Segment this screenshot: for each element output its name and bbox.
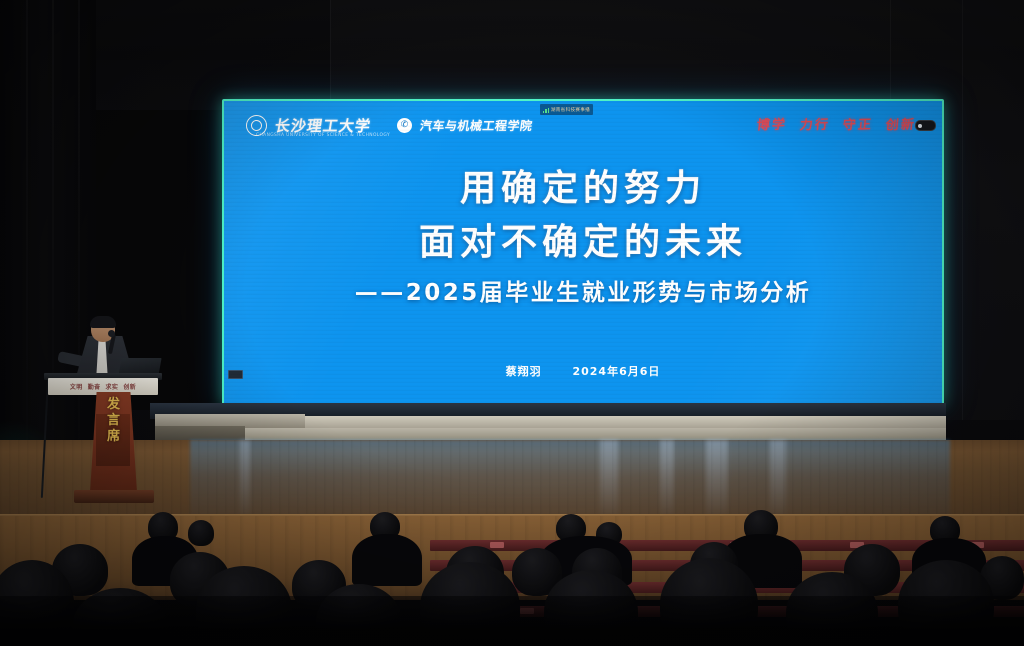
university-motto: 博学 力行 守正 创新 (757, 114, 916, 133)
slide-title-line-1: 用确定的努力 (224, 159, 942, 211)
slide-title-line-2: 面对不确定的未来 (224, 213, 942, 265)
slide-header: 长沙理工大学 ✆ 汽车与机械工程学院 CHANGSHA UNIVERSITY O… (224, 101, 942, 147)
wall-seam (962, 0, 963, 420)
podium-base (74, 490, 154, 503)
lecture-hall-photo: 长沙理工大学 ✆ 汽车与机械工程学院 CHANGSHA UNIVERSITY O… (0, 0, 1024, 646)
foreground-shadow (0, 596, 1024, 646)
presenter-name: 蔡翔羽 (506, 365, 542, 378)
presentation-slide: 长沙理工大学 ✆ 汽车与机械工程学院 CHANGSHA UNIVERSITY O… (224, 101, 942, 403)
motto-word: 创新 (885, 114, 917, 134)
slide-subtitle: ——2025届毕业生就业形势与市场分析 (224, 273, 942, 307)
audience-head (188, 520, 214, 546)
podium-banner-word: 求实 (106, 382, 119, 391)
podium-banner-word: 勤奋 (88, 382, 101, 391)
podium-label: 发 言 席 (90, 398, 137, 443)
podium-and-speaker: 文明 勤奋 求实 创新 发 言 席 (36, 318, 186, 520)
college-badge-icon: ✆ (397, 118, 412, 133)
podium-label-char: 发 (107, 398, 120, 411)
audience-shoulders (352, 534, 422, 586)
college-badge-glyph: ✆ (401, 121, 409, 130)
podium-label-char: 席 (107, 430, 120, 443)
signal-bars-icon (543, 107, 549, 113)
podium-banner-word: 创新 (123, 382, 136, 391)
presentation-date: 2024年6月6日 (572, 365, 660, 378)
microphone-head (108, 330, 115, 337)
seat-number-tag (490, 542, 504, 548)
college-name: 汽车与机械工程学院 (419, 117, 534, 134)
camera-icon (915, 120, 936, 131)
speaker-hair (90, 316, 116, 328)
motto-word: 力行 (799, 114, 831, 134)
status-badge: 湖南省科技赛事播 (540, 104, 593, 115)
podium-banner-word: 文明 (70, 382, 83, 391)
podium-label-char: 言 (107, 414, 120, 427)
motto-word: 博学 (756, 114, 788, 134)
university-name-english: CHANGSHA UNIVERSITY OF SCIENCE & TECHNOL… (256, 133, 390, 138)
motto-word: 守正 (842, 114, 874, 134)
screen-corner-marker (228, 370, 243, 379)
status-badge-label: 湖南省科技赛事播 (551, 107, 590, 113)
projection-screen: 长沙理工大学 ✆ 汽车与机械工程学院 CHANGSHA UNIVERSITY O… (222, 99, 944, 405)
slide-byline: 蔡翔羽 2024年6月6日 (224, 363, 942, 379)
